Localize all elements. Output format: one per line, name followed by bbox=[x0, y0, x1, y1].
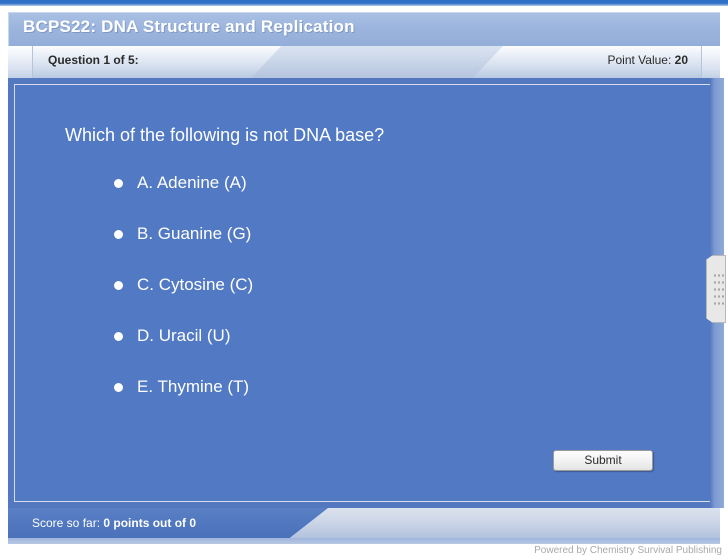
quiz-application-window: BCPS22: DNA Structure and Replication Qu… bbox=[0, 0, 728, 560]
question-panel: Which of the following is not DNA base? … bbox=[8, 78, 720, 508]
header-left-cap bbox=[8, 46, 33, 78]
title-bar: BCPS22: DNA Structure and Replication bbox=[8, 12, 720, 46]
score-text: Score so far: 0 points out of 0 bbox=[32, 516, 196, 530]
answer-options-list: A. Adenine (A) B. Guanine (G) C. Cytosin… bbox=[103, 173, 643, 428]
bullet-dot-icon bbox=[114, 383, 123, 392]
score-label: Score so far: bbox=[32, 516, 100, 530]
answer-option-d[interactable]: D. Uracil (U) bbox=[103, 326, 643, 377]
question-text: Which of the following is not DNA base? bbox=[65, 125, 384, 146]
answer-option-b[interactable]: B. Guanine (G) bbox=[103, 224, 643, 275]
grip-dots bbox=[713, 272, 725, 308]
answer-option-label: E. Thymine (T) bbox=[137, 377, 249, 397]
footer-shade bbox=[8, 538, 720, 544]
answer-option-label: B. Guanine (G) bbox=[137, 224, 251, 244]
splitter-grip-icon[interactable] bbox=[706, 255, 726, 323]
point-value: Point Value: 20 bbox=[607, 53, 688, 67]
answer-option-c[interactable]: C. Cytosine (C) bbox=[103, 275, 643, 326]
point-value-number: 20 bbox=[675, 53, 688, 67]
bullet-dot-icon bbox=[114, 332, 123, 341]
bullet-dot-icon bbox=[114, 281, 123, 290]
answer-option-label: C. Cytosine (C) bbox=[137, 275, 253, 295]
score-bar: Score so far: 0 points out of 0 bbox=[8, 508, 720, 538]
question-counter: Question 1 of 5: bbox=[48, 53, 139, 67]
powered-by-text: Powered by Chemistry Survival Publishing bbox=[534, 545, 722, 556]
header-chevron-divider bbox=[251, 46, 503, 78]
question-panel-inner: Which of the following is not DNA base? … bbox=[14, 84, 714, 502]
answer-option-label: A. Adenine (A) bbox=[137, 173, 247, 193]
submit-button[interactable]: Submit bbox=[553, 450, 653, 471]
question-header-bar: Question 1 of 5: Point Value: 20 bbox=[8, 46, 720, 78]
score-value: 0 points out of 0 bbox=[103, 516, 196, 530]
bullet-dot-icon bbox=[114, 179, 123, 188]
answer-option-label: D. Uracil (U) bbox=[137, 326, 231, 346]
answer-option-e[interactable]: E. Thymine (T) bbox=[103, 377, 643, 428]
bullet-dot-icon bbox=[114, 230, 123, 239]
page-title: BCPS22: DNA Structure and Replication bbox=[23, 17, 355, 37]
answer-option-a[interactable]: A. Adenine (A) bbox=[103, 173, 643, 224]
header-right-cap bbox=[701, 46, 720, 78]
point-value-label: Point Value: bbox=[607, 53, 671, 67]
